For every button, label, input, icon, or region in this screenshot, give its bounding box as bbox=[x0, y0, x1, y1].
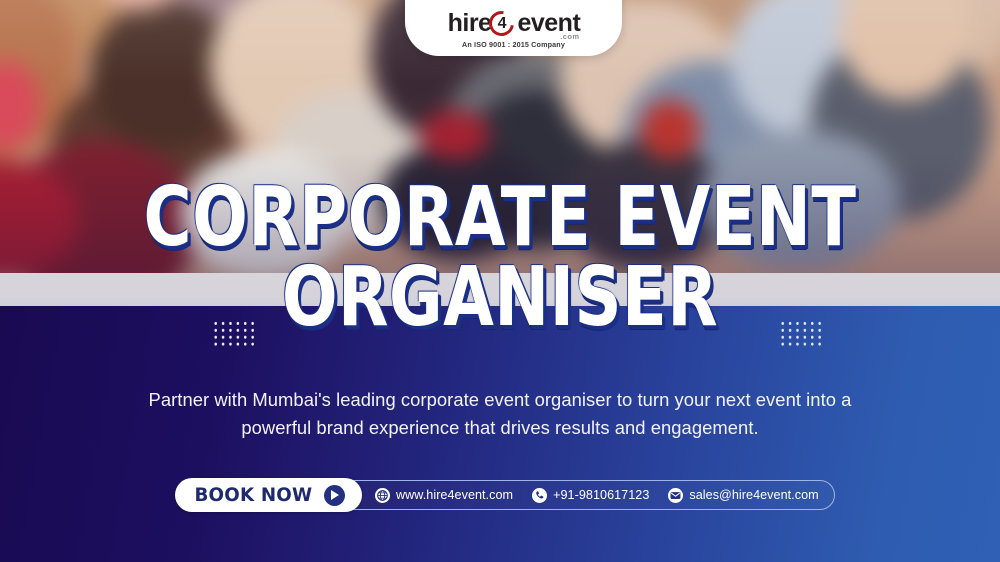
logo-dotcom: .com bbox=[560, 33, 579, 41]
brand-logo-card[interactable]: hire 4 event .com An ISO 9001 : 2015 Com… bbox=[405, 0, 622, 56]
book-now-label: BOOK NOW bbox=[194, 484, 312, 506]
globe-icon bbox=[375, 488, 390, 503]
phone-icon bbox=[532, 488, 547, 503]
contact-email-label: sales@hire4event.com bbox=[689, 488, 818, 502]
contact-phone-label: +91-9810617123 bbox=[553, 488, 649, 502]
headline-line-2: ORGANISER bbox=[100, 261, 900, 335]
contact-website-label: www.hire4event.com bbox=[396, 488, 513, 502]
logo-wordmark: hire 4 event .com bbox=[448, 11, 580, 36]
logo-text-hire: hire bbox=[448, 11, 492, 36]
book-now-button[interactable]: BOOK NOW bbox=[175, 478, 362, 512]
contact-list: www.hire4event.com +91-9810617123 s bbox=[375, 488, 819, 503]
headline-line-1: CORPORATE EVENT bbox=[100, 181, 900, 255]
play-arrow-icon bbox=[324, 485, 345, 506]
contact-phone[interactable]: +91-9810617123 bbox=[532, 488, 649, 503]
page-title: CORPORATE EVENT ORGANISER bbox=[0, 181, 1000, 335]
logo-iso-line: An ISO 9001 : 2015 Company bbox=[462, 40, 565, 49]
envelope-icon bbox=[668, 488, 683, 503]
contact-email[interactable]: sales@hire4event.com bbox=[668, 488, 818, 503]
contact-website[interactable]: www.hire4event.com bbox=[375, 488, 513, 503]
hero-subtitle: Partner with Mumbai's leading corporate … bbox=[132, 386, 868, 442]
logo-ring-icon: 4 bbox=[489, 11, 514, 36]
contact-bar: BOOK NOW www.hire4event.com bbox=[176, 480, 835, 510]
logo-number-four: 4 bbox=[489, 11, 514, 36]
promo-banner: hire 4 event .com An ISO 9001 : 2015 Com… bbox=[0, 0, 1000, 562]
